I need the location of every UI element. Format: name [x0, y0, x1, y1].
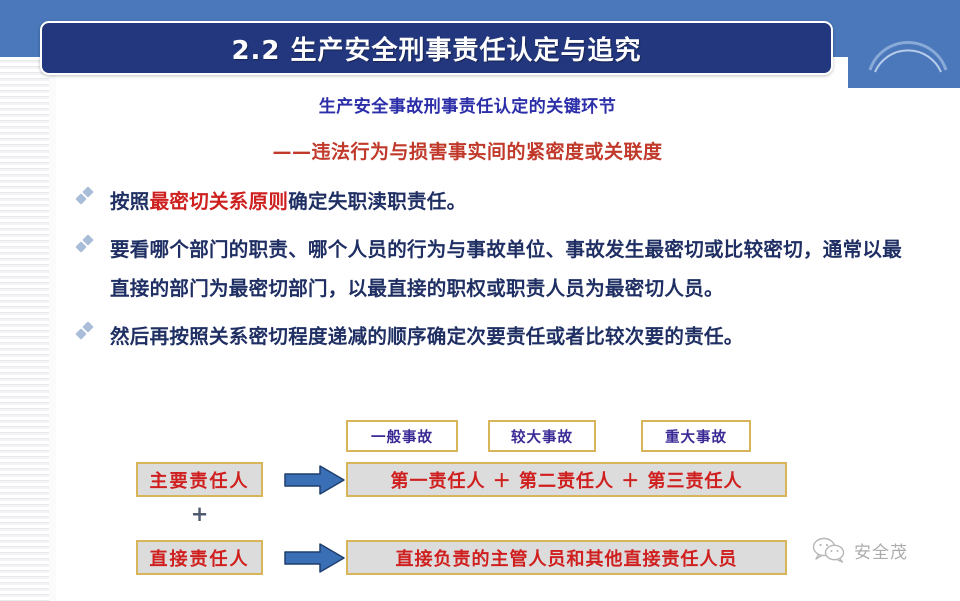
title-plate: 2.2 生产安全刑事责任认定与追究 — [40, 21, 833, 75]
page-title: 2.2 生产安全刑事责任认定与追究 — [231, 30, 641, 67]
accident-level-chip-major: 较大事故 — [488, 420, 596, 452]
double-diamond-icon — [76, 322, 96, 342]
accident-level-chip-general: 一般事故 — [346, 420, 458, 452]
right-box-direct-personnel: 直接负责的主管人员和其他直接责任人员 — [346, 540, 787, 575]
bullet-1-seg-3: 确定失职渎职责任。 — [288, 190, 466, 213]
watermark-text: 安全茂 — [854, 538, 908, 563]
right-box-responsible-chain: 第一责任人 ＋ 第二责任人 ＋ 第三责任人 — [346, 462, 787, 497]
left-box-direct-responsible: 直接责任人 — [136, 540, 263, 575]
bullet-text-3: 然后再按照关系密切程度递减的顺序确定次要责任或者比较次要的责任。 — [110, 317, 906, 356]
list-item: 然后再按照关系密切程度递减的顺序确定次要责任或者比较次要的责任。 — [76, 317, 906, 356]
left-box-primary-responsible: 主要责任人 — [136, 462, 263, 497]
wechat-icon — [812, 537, 846, 563]
list-item: 按照最密切关系原则确定失职渎职责任。 — [76, 182, 906, 221]
subtitle-secondary: ——违法行为与损害事实间的紧密度或关联度 — [0, 137, 935, 164]
diagram-plus-connector: + — [136, 502, 263, 526]
list-item: 要看哪个部门的职责、哪个人员的行为与事故单位、事故发生最密切或比较密切，通常以最… — [76, 230, 906, 308]
right-arrow-icon — [284, 542, 346, 574]
watermark: 安全茂 — [812, 537, 908, 563]
bullet-1-seg-1: 按照 — [110, 190, 150, 213]
bullet-1-seg-2-highlight: 最密切关系原则 — [150, 190, 289, 213]
right-arrow-icon — [284, 464, 346, 496]
responsibility-diagram: 一般事故 较大事故 重大事故 主要责任人 + 直接责任人 第一责任人 ＋ 第二责… — [136, 420, 816, 580]
bullet-text-1: 按照最密切关系原则确定失职渎职责任。 — [110, 182, 906, 221]
accident-level-chip-severe: 重大事故 — [641, 420, 751, 452]
bullet-list: 按照最密切关系原则确定失职渎职责任。 要看哪个部门的职责、哪个人员的行为与事故单… — [76, 182, 906, 365]
top-blue-band-right — [848, 0, 960, 88]
double-diamond-icon — [76, 235, 96, 255]
slide-root: 2.2 生产安全刑事责任认定与追究 生产安全事故刑事责任认定的关键环节 ——违法… — [0, 0, 960, 601]
subtitle-primary: 生产安全事故刑事责任认定的关键环节 — [0, 92, 935, 117]
double-diamond-icon — [76, 187, 96, 207]
bullet-text-2: 要看哪个部门的职责、哪个人员的行为与事故单位、事故发生最密切或比较密切，通常以最… — [110, 230, 906, 308]
